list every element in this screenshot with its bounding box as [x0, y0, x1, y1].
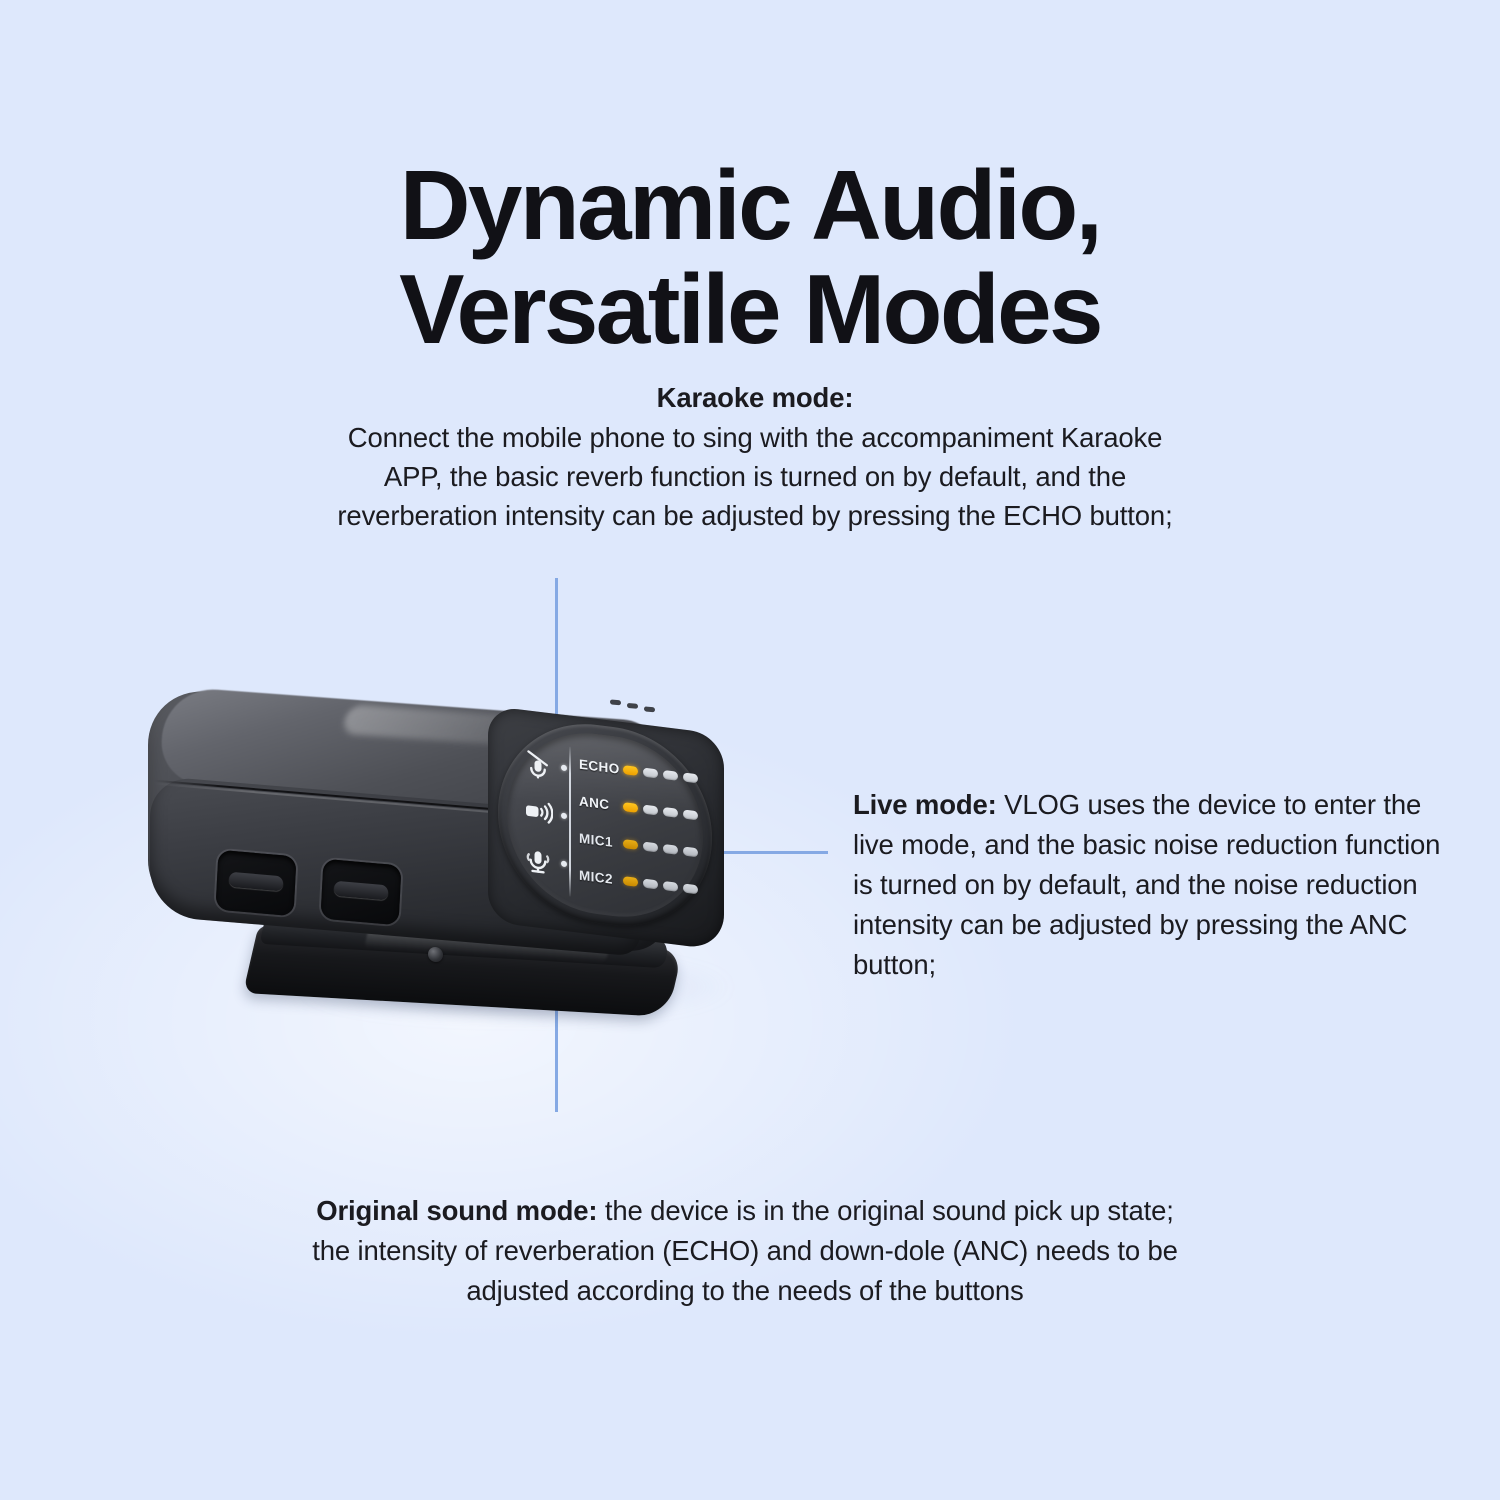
- led-pill: [663, 770, 678, 781]
- panel-divider: [569, 746, 571, 896]
- led-pill: [663, 844, 678, 855]
- callout-original-title: Original sound mode:: [316, 1195, 597, 1226]
- device-clip-pivot-pin: [428, 947, 443, 963]
- page-title: Dynamic Audio, Versatile Modes: [0, 154, 1500, 362]
- device-vent-holes: [610, 699, 670, 716]
- led-row-label: MIC1: [579, 831, 621, 851]
- led-bar-group: [623, 765, 698, 783]
- product-device: ECHO ANC: [140, 690, 840, 1060]
- led-pill: [683, 883, 698, 894]
- led-bar-group: [623, 839, 698, 857]
- led-bar-group: [623, 802, 698, 820]
- mode-icon-group: [521, 743, 567, 895]
- device-panel-content: ECHO ANC: [511, 725, 701, 924]
- led-pill: [683, 772, 698, 783]
- page-title-line-2: Versatile Modes: [0, 258, 1500, 362]
- led-level-rows: ECHO ANC: [579, 746, 703, 909]
- led-pill: [663, 881, 678, 892]
- led-pill: [683, 846, 698, 857]
- vent-hole: [627, 703, 638, 709]
- led-pill: [683, 809, 698, 820]
- led-pill: [643, 842, 658, 853]
- led-pill: [623, 802, 638, 813]
- led-pill: [623, 765, 638, 776]
- led-pill: [623, 839, 638, 850]
- usb-c-port: [320, 859, 401, 926]
- led-pill: [643, 805, 658, 816]
- callout-karaoke: Karaoke mode:Connect the mobile phone to…: [330, 378, 1180, 535]
- vent-hole: [644, 706, 655, 712]
- led-row-label: MIC2: [579, 868, 621, 888]
- led-pill: [623, 876, 638, 887]
- led-pill: [643, 879, 658, 890]
- led-pill: [663, 807, 678, 818]
- callout-karaoke-body: Connect the mobile phone to sing with th…: [337, 422, 1172, 531]
- led-bar-group: [623, 876, 698, 894]
- led-pill: [643, 768, 658, 779]
- mode-indicator-led: [561, 764, 567, 771]
- callout-live-title: Live mode:: [853, 789, 997, 820]
- mode-indicator-led: [561, 812, 567, 819]
- live-camera-icon: [523, 795, 553, 829]
- mode-indicator-led: [561, 860, 567, 867]
- usb-c-port: [215, 850, 296, 917]
- vent-hole: [610, 699, 621, 705]
- mic-muted-icon: [523, 747, 553, 781]
- callout-live: Live mode: VLOG uses the device to enter…: [853, 785, 1453, 985]
- mic-active-icon: [523, 843, 553, 877]
- infographic-stage: Dynamic Audio, Versatile Modes Karaoke m…: [0, 0, 1500, 1500]
- page-title-line-1: Dynamic Audio,: [400, 150, 1101, 260]
- callout-original: Original sound mode: the device is in th…: [295, 1191, 1195, 1311]
- led-row-label: ANC: [579, 794, 621, 814]
- led-row-label: ECHO: [579, 757, 621, 777]
- callout-karaoke-title: Karaoke mode:: [330, 378, 1180, 417]
